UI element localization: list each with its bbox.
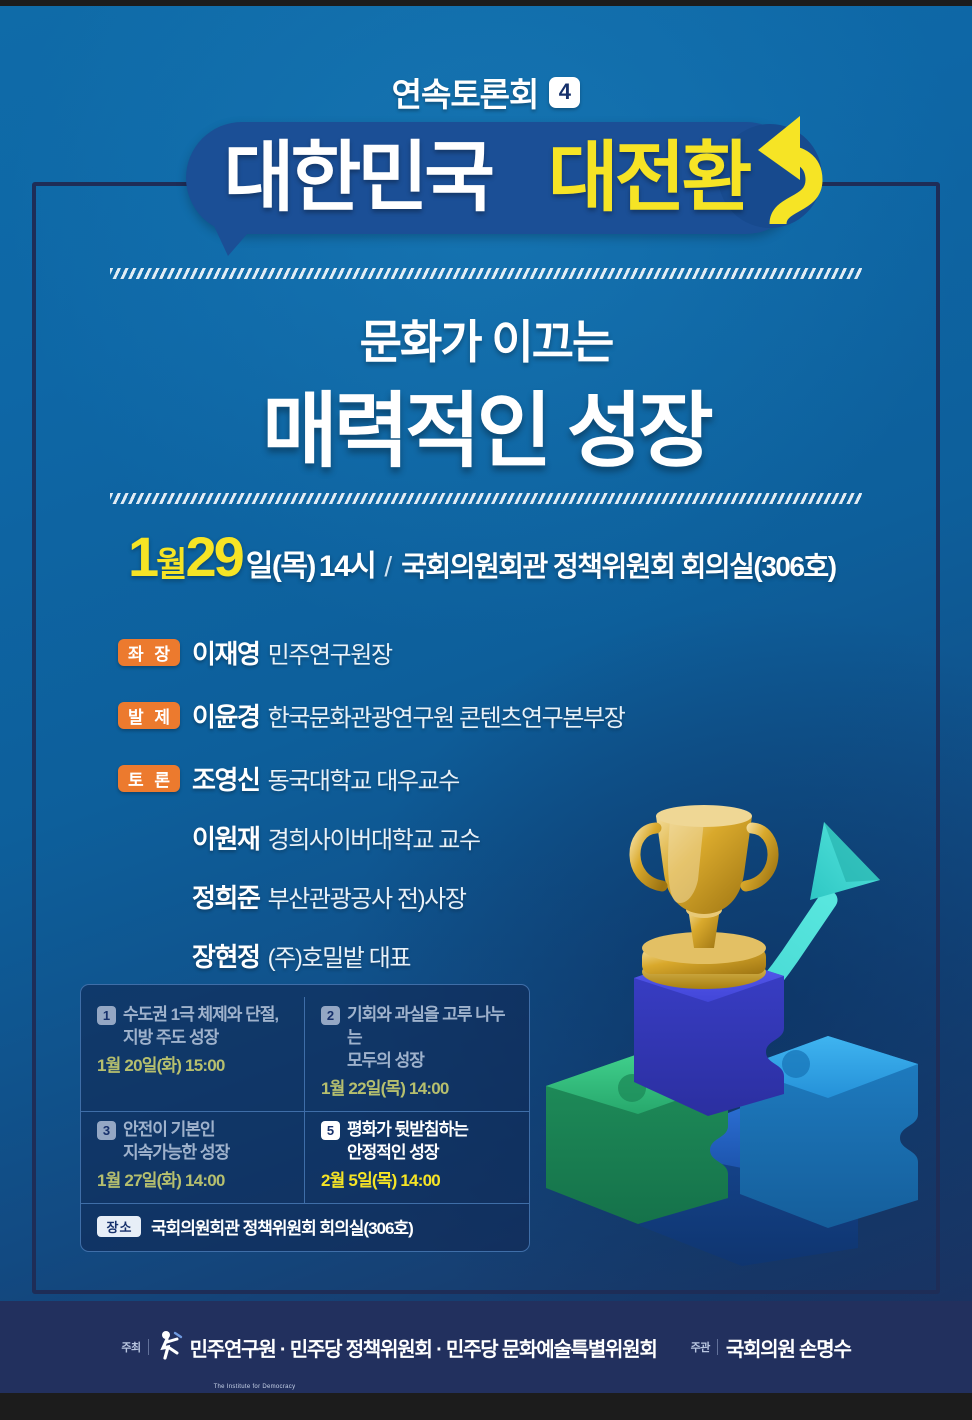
schedule-item-date: 2월 5일(목) 14:00 (321, 1166, 515, 1191)
role-tag-presenter: 발 제 (118, 702, 180, 729)
series-number-badge: 4 (549, 77, 580, 108)
venue-label-badge: 장소 (97, 1216, 141, 1237)
host-group: 주최 민주연구원 · 민주당 정책위원회 · 민주당 문화예술특별위원회 The… (121, 1330, 656, 1365)
event-venue: 국회의원회관 정책위원회 회의실(306호) (401, 545, 835, 585)
organizer-text: 국회의원 손명수 (726, 1333, 851, 1362)
schedule-number-badge: 2 (321, 1006, 340, 1025)
kicker-label: 연속토론회 (392, 68, 539, 116)
event-month-unit: 월 (156, 537, 185, 586)
main-title-yellow: 대전환 (548, 135, 749, 221)
participant-row-presenter: 발 제 이윤경 한국문화관광연구원 콘텐츠연구본부장 (118, 697, 624, 734)
participant-affiliation: 동국대학교 대우교수 (268, 761, 459, 796)
event-month: 1 (128, 524, 156, 589)
participant-affiliation: 부산관광공사 전)사장 (268, 879, 466, 914)
schedule-item-date: 1월 22일(목) 14:00 (321, 1074, 515, 1099)
schedule-box: 1 수도권 1극 체제와 단절, 지방 주도 성장 1월 20일(화) 15:0… (80, 984, 530, 1252)
curved-up-arrow-icon (742, 114, 838, 239)
participant-row-discussant: 장현정 (주)호밀밭 대표 (118, 937, 624, 974)
participant-affiliation: (주)호밀밭 대표 (268, 938, 411, 973)
schedule-item[interactable]: 1 수도권 1극 체제와 단절, 지방 주도 성장 1월 20일(화) 15:0… (81, 997, 305, 1112)
role-tag-spacer (118, 883, 180, 910)
datetime-venue-separator: / (384, 551, 392, 583)
participant-row-discussant: 토 론 조영신 동국대학교 대우교수 (118, 760, 624, 797)
schedule-item-title: 수도권 1극 체제와 단절, 지방 주도 성장 (123, 1003, 278, 1049)
event-day: 29 (185, 524, 241, 589)
schedule-row-bottom: 3 안전이 기본인 지속가능한 성장 1월 27일(화) 14:00 5 평화가… (81, 1112, 529, 1203)
role-tag-spacer (118, 824, 180, 851)
role-tag-chair: 좌 장 (118, 639, 180, 666)
subtitle-line-1: 문화가 이끄는 (0, 306, 972, 372)
event-day-suffix: 일(목) (246, 541, 315, 585)
participant-affiliation: 경희사이버대학교 교수 (268, 820, 480, 855)
schedule-item-title: 평화가 뒷받침하는 안정적인 성장 (347, 1118, 468, 1164)
schedule-venue-row: 장소 국회의원회관 정책위원회 회의실(306호) (81, 1203, 529, 1251)
running-figure-icon (157, 1330, 183, 1365)
role-tag-discussant: 토 론 (118, 765, 180, 792)
participant-name: 이재영 (192, 634, 260, 671)
participant-name: 이원재 (192, 819, 260, 856)
participant-affiliation: 민주연구원장 (268, 635, 392, 670)
event-datetime-venue: 1 월 29 일(목) 14시 / 국회의원회관 정책위원회 회의실(306호) (128, 524, 836, 589)
schedule-item-title: 안전이 기본인 지속가능한 성장 (123, 1118, 229, 1164)
footer-organizers: 주최 민주연구원 · 민주당 정책위원회 · 민주당 문화예술특별위원회 The… (0, 1301, 972, 1393)
schedule-item-date: 1월 20일(화) 15:00 (97, 1051, 290, 1076)
role-tag-spacer (118, 942, 180, 969)
organizer-group: 주관 국회의원 손명수 (691, 1333, 851, 1362)
schedule-row-top: 1 수도권 1극 체제와 단절, 지방 주도 성장 1월 20일(화) 15:0… (81, 997, 529, 1112)
divider-hatch-bottom (110, 493, 862, 504)
host-text: 민주연구원 · 민주당 정책위원회 · 민주당 문화예술특별위원회 (190, 1333, 657, 1362)
divider-hatch-top (110, 268, 862, 279)
main-title-white: 대한민국 (224, 135, 491, 221)
participant-affiliation: 한국문화관광연구원 콘텐츠연구본부장 (268, 698, 625, 733)
schedule-number-badge: 3 (97, 1121, 116, 1140)
participant-name: 조영신 (192, 760, 260, 797)
participant-name: 정희준 (192, 878, 260, 915)
host-label: 주최 (121, 1339, 148, 1355)
event-poster: 연속토론회 4 대한민국 대전환 문화가 이끄는 매력적인 성장 1 월 29 … (0, 6, 972, 1393)
trophy-icon (635, 805, 773, 989)
schedule-item[interactable]: 3 안전이 기본인 지속가능한 성장 1월 27일(화) 14:00 (81, 1112, 305, 1203)
participant-name: 장현정 (192, 937, 260, 974)
institute-for-democracy-logo: 민주연구원 · 민주당 정책위원회 · 민주당 문화예술특별위원회 The In… (157, 1330, 657, 1365)
participant-row-chair: 좌 장 이재영 민주연구원장 (118, 634, 624, 671)
event-time: 14시 (319, 541, 375, 585)
series-kicker: 연속토론회 4 (0, 68, 972, 116)
host-logo-tagline: The Institute for Democracy (214, 1384, 296, 1390)
schedule-item-date: 1월 27일(화) 14:00 (97, 1166, 290, 1191)
participant-name: 이윤경 (192, 697, 260, 734)
schedule-item-active[interactable]: 5 평화가 뒷받침하는 안정적인 성장 2월 5일(목) 14:00 (305, 1112, 529, 1203)
venue-text: 국회의원회관 정책위원회 회의실(306호) (151, 1214, 413, 1239)
schedule-number-badge: 5 (321, 1121, 340, 1140)
title-bubble-tail (214, 226, 254, 256)
schedule-number-badge: 1 (97, 1006, 116, 1025)
schedule-item-title: 기회와 과실을 고루 나누는 모두의 성장 (347, 1003, 515, 1072)
subtitle-line-2: 매력적인 성장 (0, 364, 972, 483)
participant-row-discussant: 이원재 경희사이버대학교 교수 (118, 819, 624, 856)
schedule-item[interactable]: 2 기회와 과실을 고루 나누는 모두의 성장 1월 22일(목) 14:00 (305, 997, 529, 1112)
participant-row-discussant: 정희준 부산관광공사 전)사장 (118, 878, 624, 915)
participants-list: 좌 장 이재영 민주연구원장 발 제 이윤경 한국문화관광연구원 콘텐츠연구본부… (118, 634, 624, 982)
organizer-label: 주관 (691, 1339, 718, 1355)
